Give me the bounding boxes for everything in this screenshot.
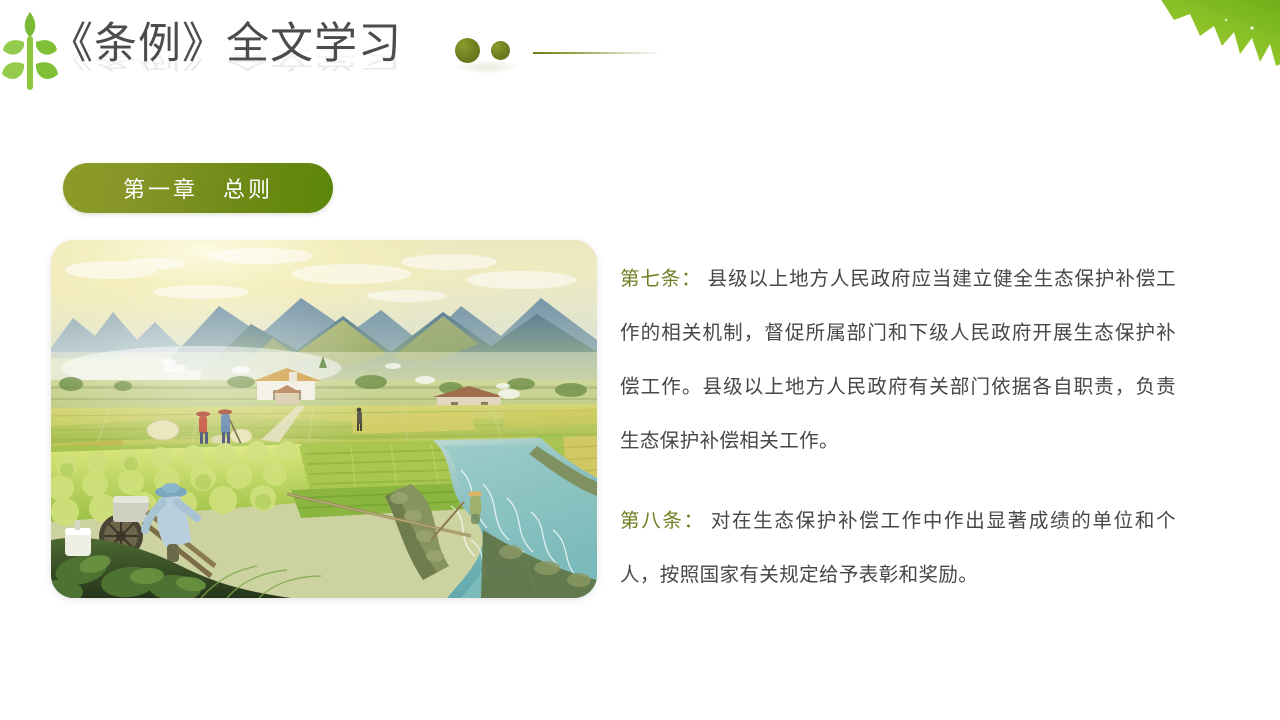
article-number: 第八条： — [620, 510, 705, 532]
chapter-badge-label: 第一章 总则 — [123, 172, 273, 204]
slide-root: 《条例》全文学习 《条例》全文学习 第一章 总则 — [0, 0, 1280, 720]
article-text-block: 第七条：县级以上地方人民政府应当建立健全生态保护补偿工作的相关机制，督促所属部门… — [620, 252, 1176, 602]
article-body: 县级以上地方人民政府应当建立健全生态保护补偿工作的相关机制，督促所属部门和下级人… — [620, 268, 1176, 452]
page-title-text: 《条例》全文学习 — [50, 16, 402, 72]
illustration-svg — [51, 240, 597, 598]
olive-dot-large — [455, 38, 480, 63]
olive-dot-small — [491, 41, 510, 60]
chapter-badge: 第一章 总则 — [63, 163, 333, 213]
article-number: 第七条： — [620, 268, 702, 290]
page-title: 《条例》全文学习 — [50, 16, 402, 76]
rural-farmland-sunrise-illustration — [51, 240, 597, 598]
article-paragraph: 第七条：县级以上地方人民政府应当建立健全生态保护补偿工作的相关机制，督促所属部门… — [620, 252, 1176, 468]
gradient-rule — [533, 52, 663, 54]
slide-header: 《条例》全文学习 《条例》全文学习 — [0, 0, 1280, 100]
article-paragraph: 第八条：对在生态保护补偿工作中作出显著成绩的单位和个人，按照国家有关规定给予表彰… — [620, 494, 1176, 602]
